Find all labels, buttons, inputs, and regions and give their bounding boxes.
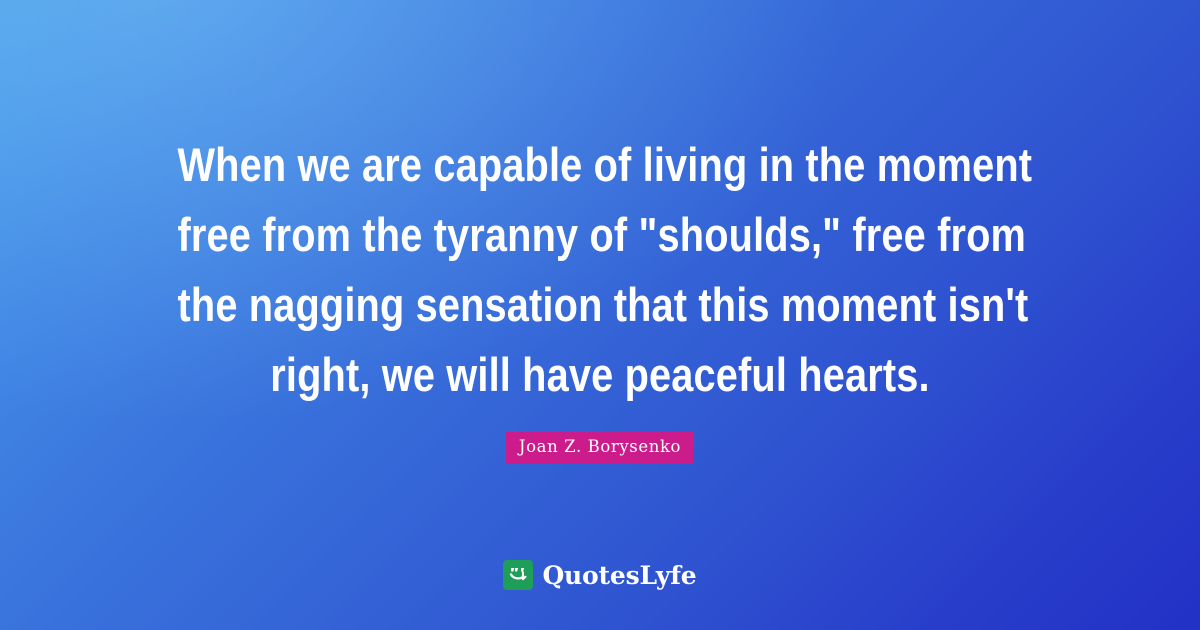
quote-line-3: the nagging sensation that this moment i… <box>178 270 1023 340</box>
quote-line-4: right, we will have peaceful hearts. <box>178 340 1023 410</box>
brand-name: QuotesLyfe <box>542 563 696 588</box>
footer: QuotesLyfe <box>0 560 1200 590</box>
quote-line-2: free from the tyranny of "shoulds," free… <box>178 200 1023 270</box>
author-badge-container: Joan Z. Borysenko <box>506 432 694 464</box>
quote-card: When we are capable of living in the mom… <box>0 0 1200 630</box>
card-inner: When we are capable of living in the mom… <box>0 0 1200 630</box>
author-name-badge: Joan Z. Borysenko <box>506 432 694 464</box>
quote-text: When we are capable of living in the mom… <box>100 130 1100 410</box>
quote-smiley-icon <box>503 560 533 590</box>
quoteslyfe-logo[interactable]: QuotesLyfe <box>503 560 696 590</box>
quote-line-1: When we are capable of living in the mom… <box>178 130 1023 200</box>
